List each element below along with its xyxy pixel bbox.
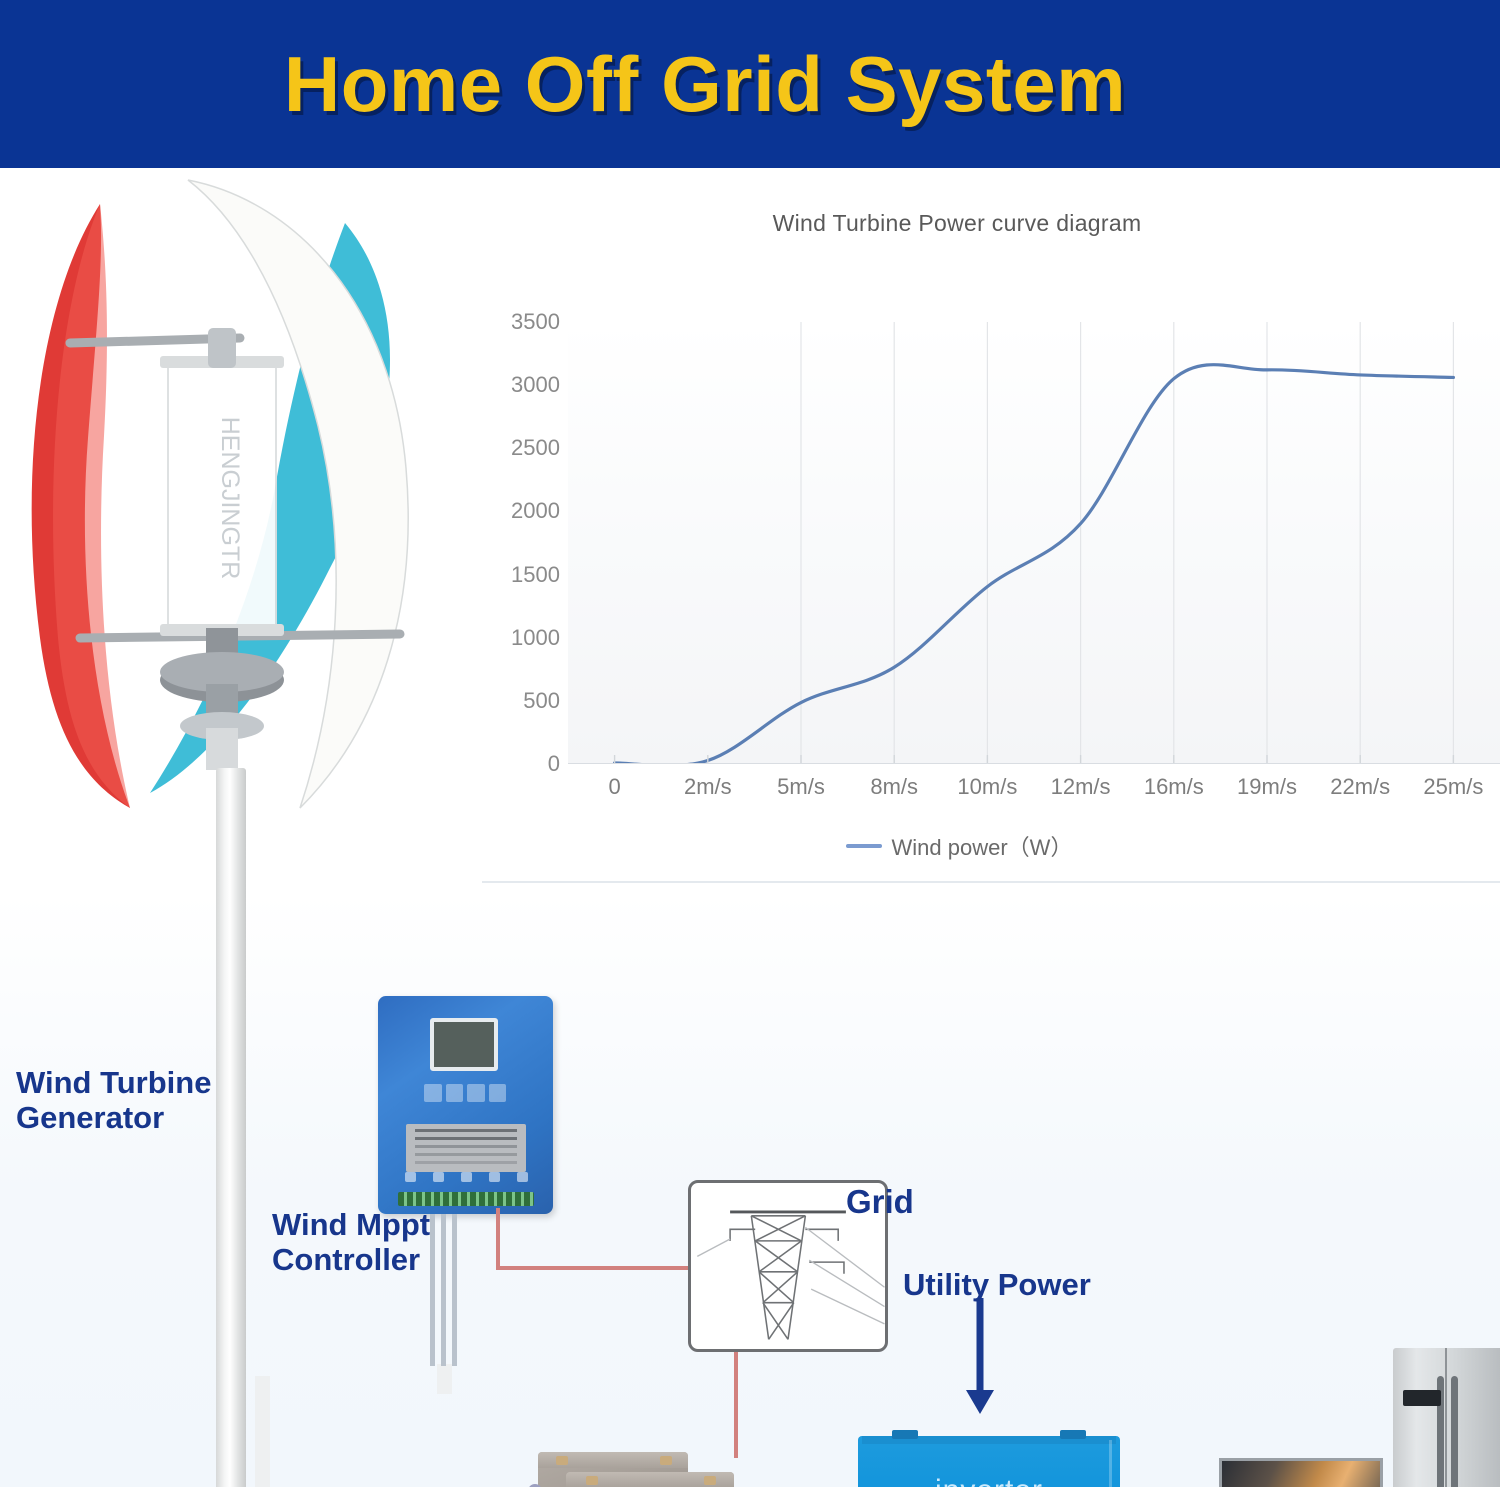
controller-dc-wire-2 [441,1214,446,1366]
y-tick-1000: 1000 [511,625,560,651]
inverter-tab [892,1430,918,1439]
ac-load-television [1219,1458,1383,1487]
x-tick-19ms: 19m/s [1237,774,1297,800]
controller-terminal-block [398,1192,534,1206]
off-grid-system-infographic: Home Off Grid System Wind Turbine Power … [0,0,1500,1487]
legend-label-wind-power: Wind power（W） [892,830,1073,862]
plot-canvas [568,322,1500,764]
y-tick-3000: 3000 [511,372,560,398]
controller-label-plate [406,1124,526,1172]
fridge-door-split [1445,1348,1447,1487]
x-tick-10ms: 10m/s [957,774,1017,800]
legend-swatch-wind-power [846,844,882,848]
fridge-handle-right [1451,1376,1458,1487]
x-tick-2ms: 2m/s [684,774,732,800]
wind-power-curve [615,365,1454,763]
page-title: Home Off Grid System [284,39,1126,130]
controller-lcd-screen [430,1018,498,1071]
power-curve-chart: Wind Turbine Power curve diagram 0500100… [482,182,1500,882]
y-tick-0: 0 [548,751,560,777]
controller-dc-wire-1 [430,1214,435,1366]
battery-terminal-cap [704,1476,716,1485]
label-wind-turbine-generator: Wind Turbine Generator [16,1066,211,1135]
battery-group-graphic: battery [532,1444,752,1487]
battery-terminal-cap [556,1456,568,1465]
page-header: Home Off Grid System [0,0,1500,168]
y-tick-2000: 2000 [511,498,560,524]
label-utility-power: Utility Power [903,1268,1091,1303]
chart-title: Wind Turbine Power curve diagram [482,210,1432,237]
x-tick-22ms: 22m/s [1330,774,1390,800]
tv-screen [1219,1458,1383,1487]
ac-load-refrigerator [1393,1348,1500,1487]
y-tick-1500: 1500 [511,562,560,588]
vertical-gridlines [801,322,1453,763]
battery-unit-front: battery [566,1472,734,1487]
y-axis-tick-labels: 0500100015002000250030003500 [482,322,560,764]
x-tick-25ms: 25m/s [1423,774,1483,800]
y-tick-500: 500 [523,688,560,714]
x-tick-5ms: 5m/s [777,774,825,800]
inverter-text: inverter [858,1474,1120,1487]
x-tick-12ms: 12m/s [1051,774,1111,800]
ups-inverter-graphic: inverter [858,1436,1120,1487]
chart-legend: Wind power（W） [450,830,1468,862]
label-grid: Grid [846,1184,914,1221]
controller-dc-wire-3 [452,1214,457,1366]
power-lines [697,1227,884,1324]
controller-buttons[interactable] [424,1084,506,1104]
chart-svg [568,322,1500,763]
inverter-tab [1060,1430,1086,1439]
arrow-grid-to-inverter [960,1298,1000,1416]
diagram-canvas: Wind Turbine Power curve diagram 0500100… [0,168,1500,1487]
controller-status-icons [396,1172,536,1186]
turbine-tower-pole [216,768,246,1487]
x-axis-tick-labels: 02m/s5m/s8m/s10m/s12m/s16m/s19m/s22m/s25… [568,774,1500,808]
chart-card-divider [482,881,1500,883]
wind-mppt-controller[interactable] [378,996,553,1214]
tower-cable-conduit [255,1376,467,1487]
x-tick-16ms: 16m/s [1144,774,1204,800]
turbine-blades-svg: HENGJINGTR [0,168,470,828]
fridge-display-panel [1403,1390,1441,1406]
x-axis-ticks [615,755,1454,763]
battery-terminal-cap [660,1456,672,1465]
battery-terminal-cap [586,1476,598,1485]
x-tick-8ms: 8m/s [870,774,918,800]
x-tick-0: 0 [608,774,620,800]
y-tick-3500: 3500 [511,309,560,335]
y-tick-2500: 2500 [511,435,560,461]
controller-to-battery-wire-v1 [496,1208,500,1270]
label-wind-mppt-controller: Wind Mppt Controller [272,1208,430,1277]
wind-turbine-graphic: HENGJINGTR [0,168,470,828]
turbine-brand-text: HENGJINGTR [216,417,244,580]
chart-plot-area: 0500100015002000250030003500 02m/s5m/s8m… [482,322,1500,802]
